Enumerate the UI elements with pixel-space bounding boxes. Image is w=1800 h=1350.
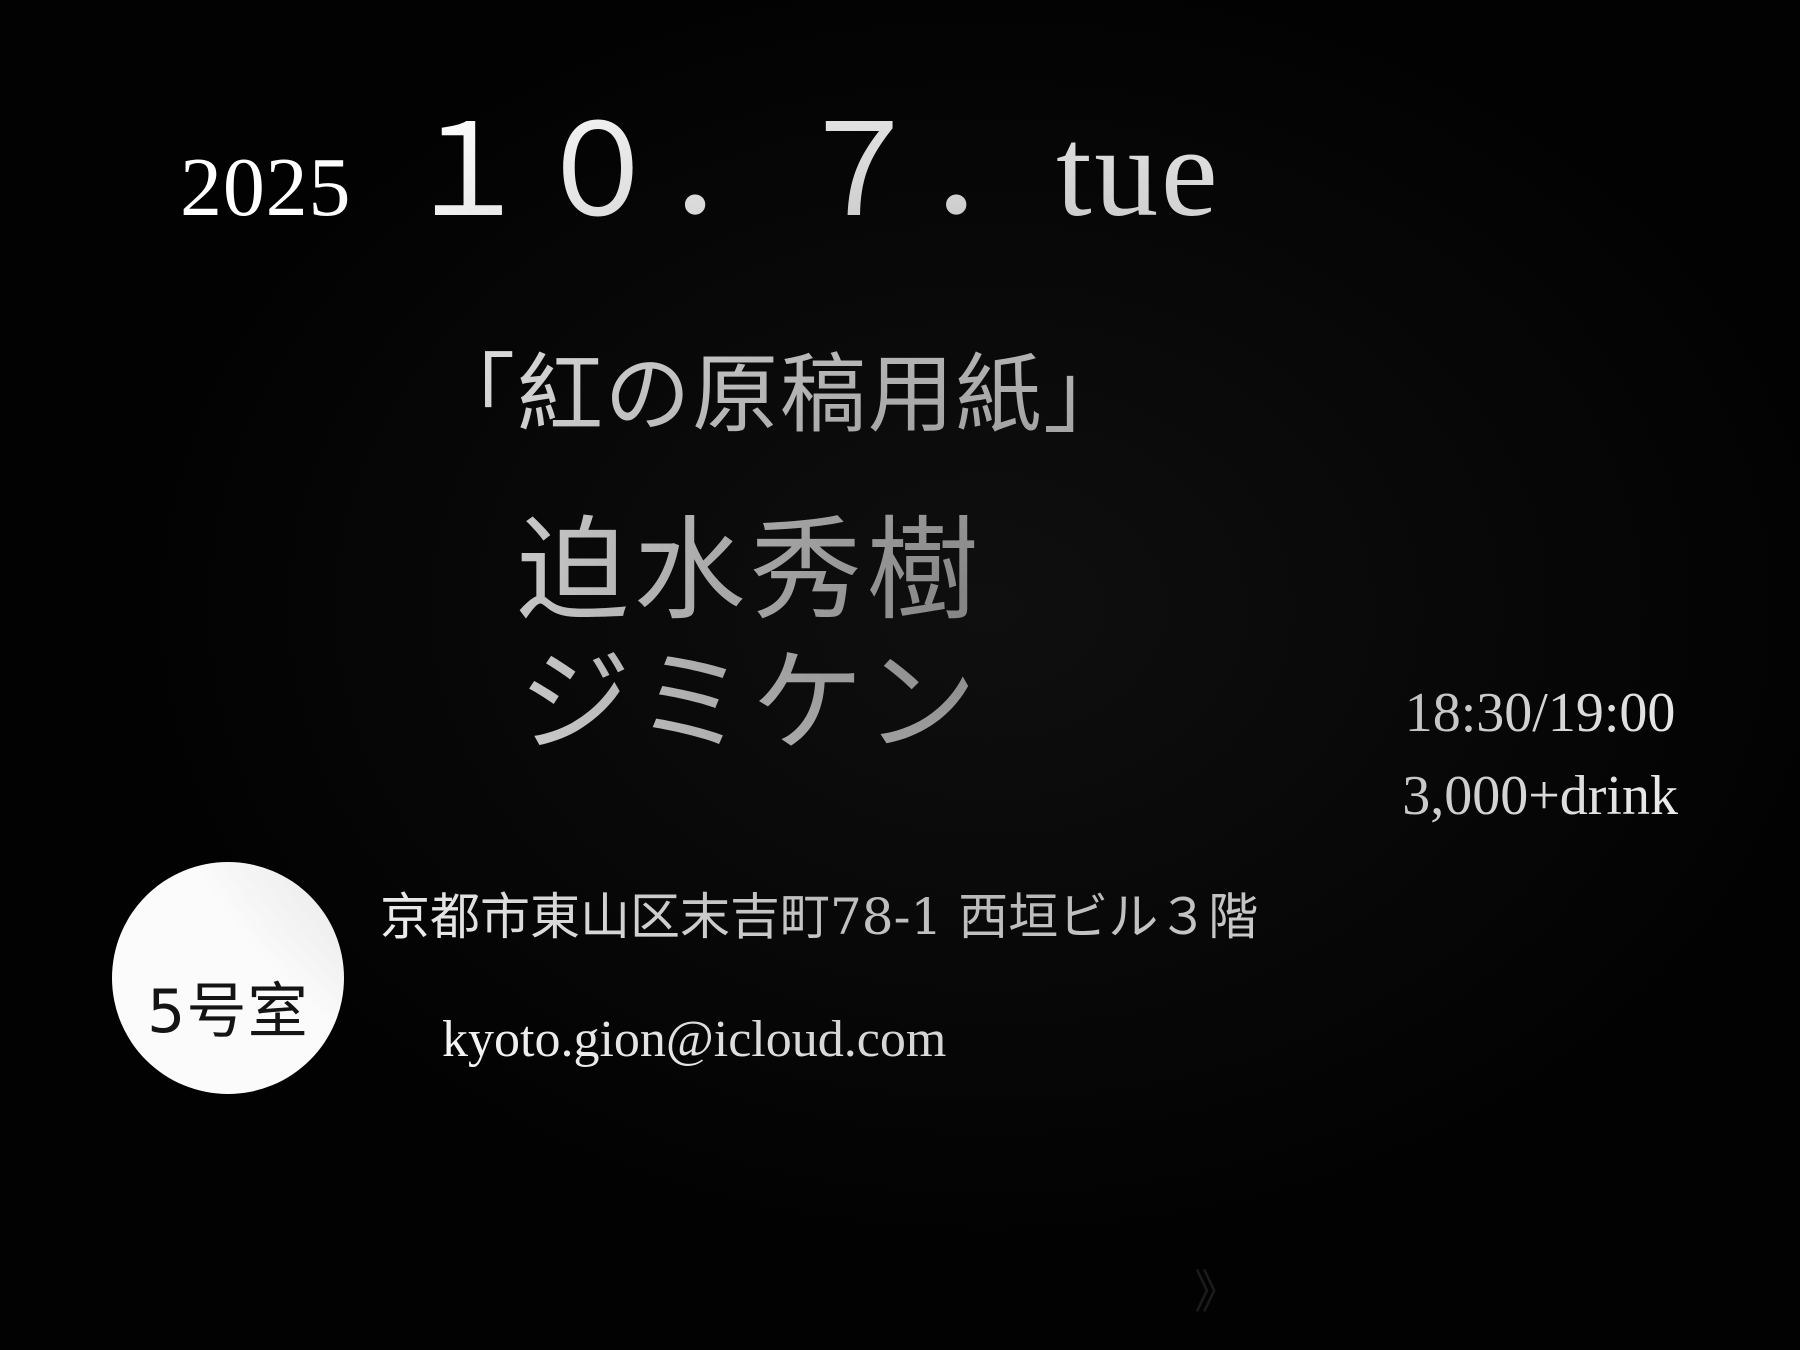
corner-mark-icon: 》 (1194, 1256, 1240, 1322)
performer-name: 迫水秀樹 (0, 505, 1500, 637)
venue-logo-label: 5号室 (147, 963, 309, 1050)
performer-name: ジミケン (0, 637, 1500, 769)
ticket-price: 3,000+drink (1402, 755, 1678, 838)
event-date-main: １０．７．tue (403, 108, 1220, 236)
event-year: 2025 (180, 146, 351, 230)
open-start-time: 18:30/19:00 (1402, 672, 1678, 755)
time-price-block: 18:30/19:00 3,000+drink (1402, 672, 1678, 838)
venue-email: kyoto.gion@icloud.com (442, 1014, 1380, 1066)
show-title: 「紅の原稿用紙」 (0, 352, 1800, 438)
venue-address: 京都市東山区末吉町78-1 西垣ビル３階 (380, 892, 1380, 942)
venue-contact: 京都市東山区末吉町78-1 西垣ビル３階 kyoto.gion@icloud.c… (380, 892, 1380, 1066)
venue-logo: 5号室 (112, 862, 344, 1094)
event-date: 2025 １０．７．tue (0, 108, 1460, 236)
flyer-poster: 2025 １０．７．tue 「紅の原稿用紙」 迫水秀樹 ジミケン 18:30/1… (0, 0, 1800, 1350)
